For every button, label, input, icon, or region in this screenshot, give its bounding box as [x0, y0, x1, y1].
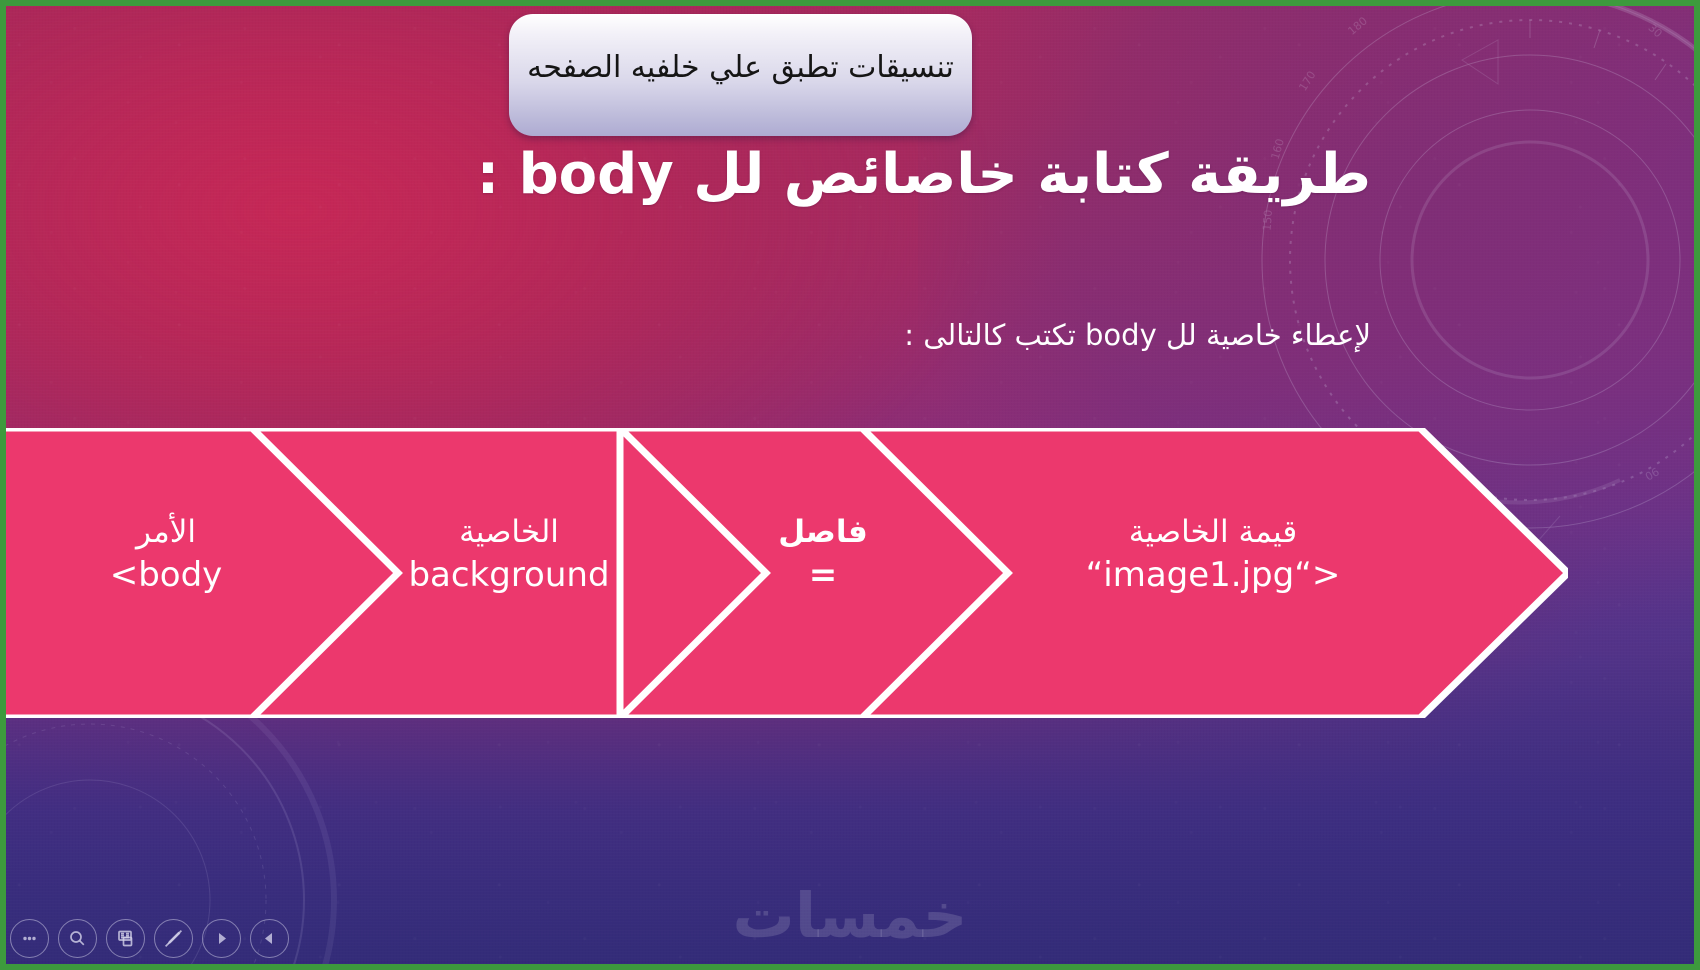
callout-bubble: تنسيقات تطبق علي خلفيه الصفحه	[509, 14, 972, 136]
frame-edge-right	[1694, 0, 1700, 970]
more-options-button[interactable]	[10, 919, 49, 958]
svg-text:180: 180	[1345, 14, 1369, 37]
slide-subtitle: لإعطاء خاصية لل body تكتب كالتالى :	[904, 318, 1371, 352]
chevron-process-diagram	[0, 428, 1568, 718]
frame-edge-top	[0, 0, 1700, 6]
zoom-tool-button[interactable]	[58, 919, 97, 958]
svg-text:170: 170	[1296, 69, 1318, 94]
pen-icon	[163, 928, 184, 949]
svg-text:90: 90	[1643, 464, 1662, 482]
grid-slides-icon	[115, 928, 136, 949]
triangle-right-icon	[213, 930, 230, 947]
next-slide-button[interactable]	[202, 919, 241, 958]
triangle-left-icon	[261, 930, 278, 947]
svg-text:150: 150	[1261, 209, 1275, 231]
presentation-toolbar	[10, 919, 289, 958]
callout-text: تنسيقات تطبق علي خلفيه الصفحه	[527, 50, 954, 100]
frame-edge-left	[0, 0, 6, 970]
slide-overview-button[interactable]	[106, 919, 145, 958]
ellipsis-icon	[19, 928, 40, 949]
frame-edge-bottom	[0, 964, 1700, 970]
slide-stage: 10 20 30 40 50 60 190 180 170 160 150 12…	[0, 0, 1700, 970]
magnifier-icon	[67, 928, 88, 949]
page-title: طريقة كتابة خاصائص لل body :	[477, 142, 1371, 207]
pen-tool-button[interactable]	[154, 919, 193, 958]
previous-slide-button[interactable]	[250, 919, 289, 958]
